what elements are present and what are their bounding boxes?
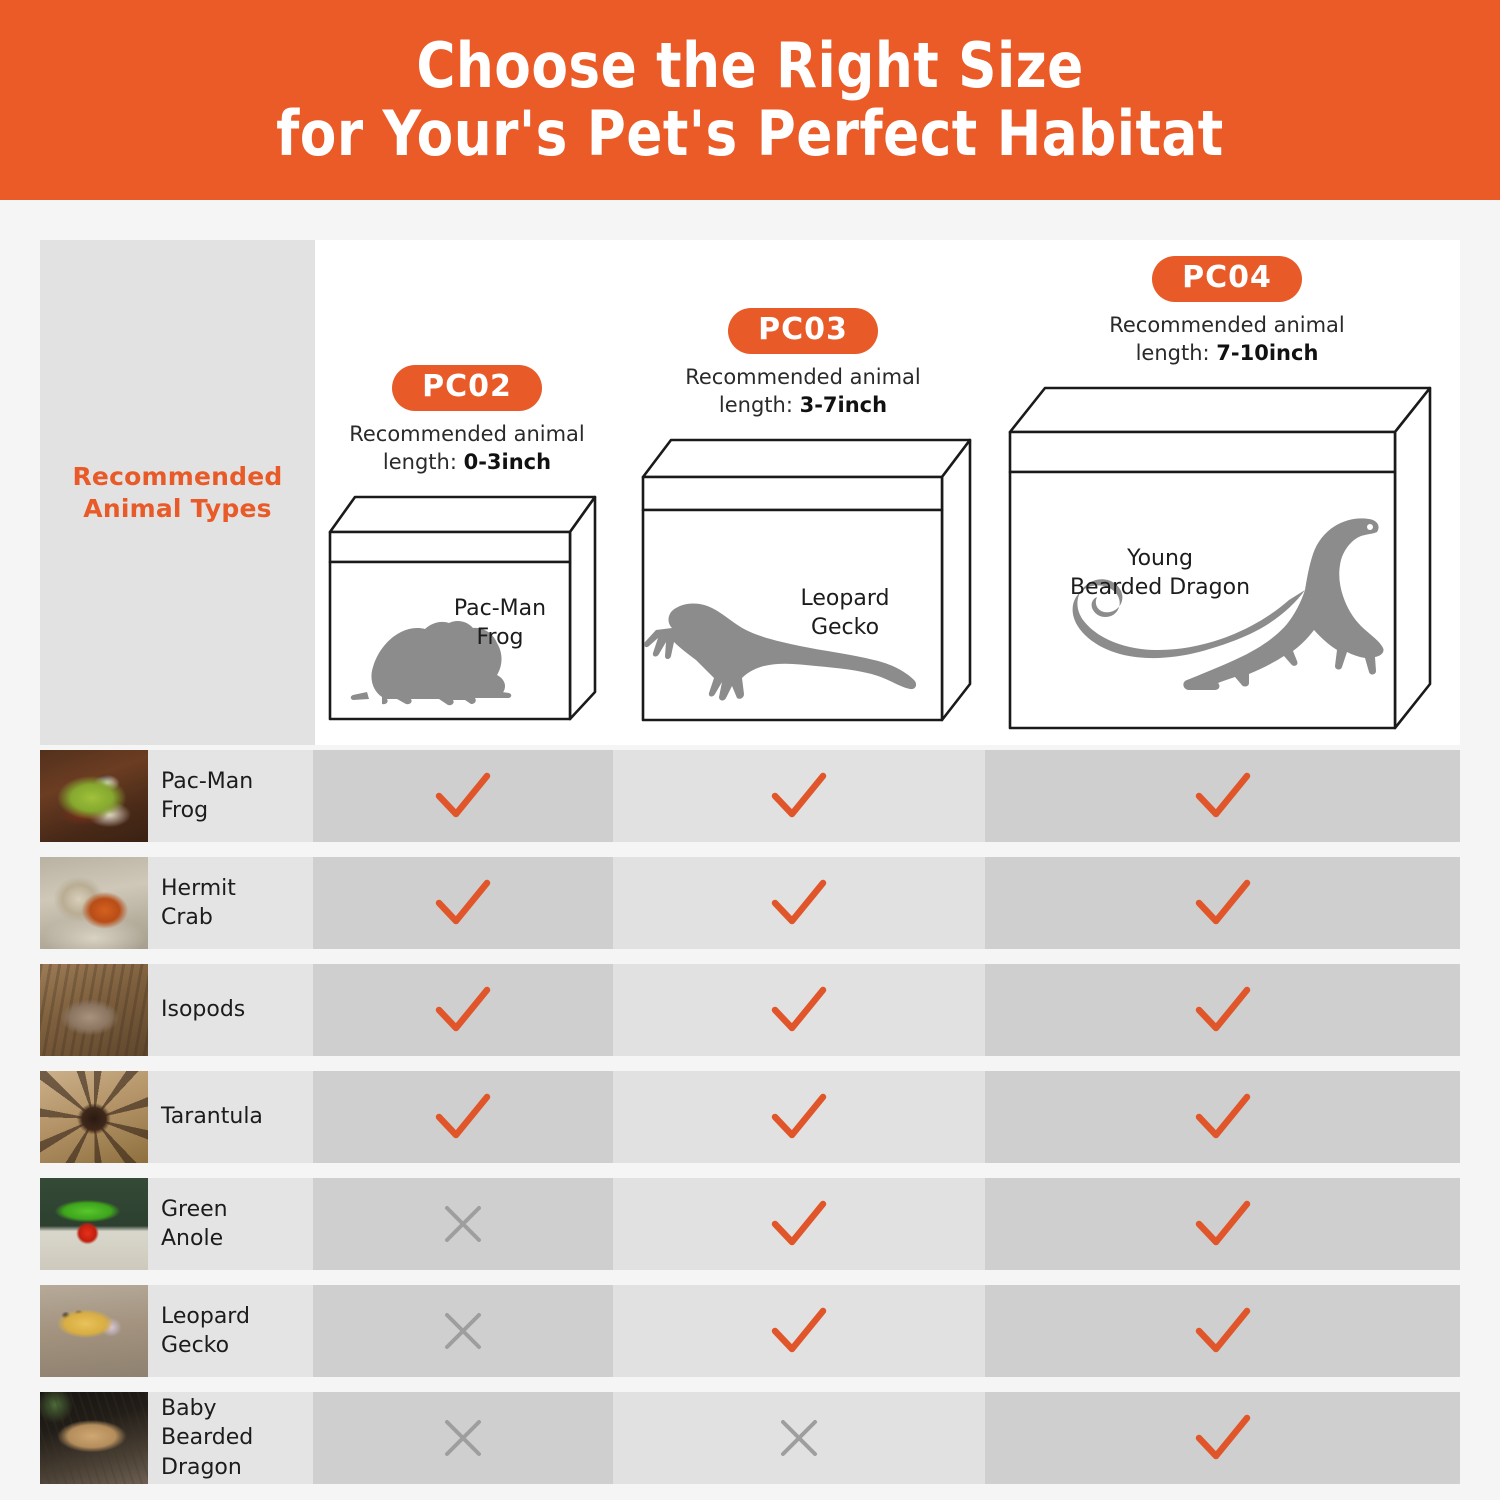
compatibility-table: Pac-Man Frog Hermit Crab Isopods [0,750,1500,1499]
table-row: Leopard Gecko [0,1285,1500,1377]
product-desc-line1-pc02: Recommended animal [349,422,585,446]
product-code-badge-pc03: PC03 [728,308,878,354]
animal-name-cell: Leopard Gecko [148,1285,313,1377]
check-icon [767,768,831,824]
product-spec-pc02: PC02 Recommended animal length: 0-3inch [342,365,592,476]
check-icon [1191,982,1255,1038]
pc04-check-mark [1191,1303,1255,1359]
compat-cell-pc02 [313,1285,613,1377]
check-icon [767,875,831,931]
pc02-check-mark [431,982,495,1038]
pc02-check-mark [431,1089,495,1145]
recommended-animal-types-title: Recommended Animal Types [40,461,315,525]
animal-name: Tarantula [161,1102,263,1131]
pc04-check-mark [1191,1410,1255,1466]
check-icon [431,875,495,931]
compat-cell-pc02 [313,1392,613,1484]
check-icon [1191,875,1255,931]
compat-cell-pc02 [313,750,613,842]
compat-cell-pc04 [985,1178,1460,1270]
animal-name: Leopard Gecko [161,1302,250,1360]
pc02-cross-mark [439,1200,487,1248]
pc02-cross-mark [439,1307,487,1355]
compat-cell-pc03 [613,1178,985,1270]
box-label-pc03: Leopard Gecko [770,585,920,642]
animal-name-line-1: Tarantula [161,1102,263,1131]
product-spec-pc03: PC03 Recommended animal length: 3-7inch [672,308,934,419]
check-icon [767,982,831,1038]
pc04-check-mark [1191,982,1255,1038]
terrarium-box-pc03 [638,432,983,732]
banner-title-line-2: for Your's Pet's Perfect Habitat [276,102,1224,166]
product-length-value-pc04: 7-10inch [1216,341,1318,365]
animal-name-cell: Isopods [148,964,313,1056]
animal-name-line-2: Gecko [161,1331,250,1360]
product-code-badge-pc04: PC04 [1152,256,1302,302]
animal-name-line-2: Dragon [161,1453,313,1482]
header-banner: Choose the Right Size for Your's Pet's P… [0,0,1500,200]
table-row: Tarantula [0,1071,1500,1163]
pc04-check-mark [1191,1196,1255,1252]
box-label-line1-pc04: Young [1060,545,1260,574]
check-icon [767,1089,831,1145]
product-desc-pc02: Recommended animal length: 0-3inch [342,421,592,476]
pc04-check-mark [1191,768,1255,824]
compat-cell-pc04 [985,964,1460,1056]
animal-name-line-2: Crab [161,903,236,932]
box-label-line2-pc02: Frog [430,624,570,653]
animal-thumbnail [40,750,148,842]
box-label-line1-pc03: Leopard [770,585,920,614]
box-label-line2-pc03: Gecko [770,614,920,643]
compat-cell-pc04 [985,1392,1460,1484]
pc04-check-mark [1191,875,1255,931]
compat-cell-pc02 [313,857,613,949]
animal-thumbnail [40,1392,148,1484]
compat-cell-pc03 [613,857,985,949]
product-desc-pc03: Recommended animal length: 3-7inch [672,364,934,419]
compat-cell-pc02 [313,1071,613,1163]
animal-thumbnail [40,964,148,1056]
animal-name-line-1: Green [161,1195,228,1224]
box-label-line2-pc04: Bearded Dragon [1060,574,1260,603]
animal-name-line-2: Frog [161,796,253,825]
compat-cell-pc03 [613,964,985,1056]
size-guide-infographic: Choose the Right Size for Your's Pet's P… [0,0,1500,1500]
check-icon [431,982,495,1038]
animal-name-cell: Tarantula [148,1071,313,1163]
product-desc-line1-pc03: Recommended animal [685,365,921,389]
product-length-label-pc02: length: [383,450,464,474]
pc02-cross-mark [439,1414,487,1462]
cross-icon [439,1307,487,1355]
pc03-check-mark [767,768,831,824]
box-label-pc04: Young Bearded Dragon [1060,545,1260,602]
check-icon [431,768,495,824]
compat-cell-pc02 [313,964,613,1056]
check-icon [1191,1089,1255,1145]
animal-name-cell: Green Anole [148,1178,313,1270]
animal-name: Pac-Man Frog [161,767,253,825]
compat-cell-pc04 [985,857,1460,949]
animal-name-cell: Hermit Crab [148,857,313,949]
compat-cell-pc03 [613,1071,985,1163]
pc03-check-mark [767,982,831,1038]
table-row: Hermit Crab [0,857,1500,949]
product-code-badge-pc02: PC02 [392,365,542,411]
cross-icon [775,1414,823,1462]
product-desc-pc04: Recommended animal length: 7-10inch [1052,312,1402,367]
product-length-value-pc02: 0-3inch [464,450,552,474]
compat-cell-pc03 [613,1285,985,1377]
animal-thumbnail [40,1178,148,1270]
animal-name: Isopods [161,995,245,1024]
check-icon [1191,1196,1255,1252]
compat-cell-pc03 [613,1392,985,1484]
check-icon [767,1303,831,1359]
animal-name-cell: Pac-Man Frog [148,750,313,842]
table-row: Pac-Man Frog [0,750,1500,842]
check-icon [1191,768,1255,824]
product-length-value-pc03: 3-7inch [800,393,888,417]
compat-cell-pc02 [313,1178,613,1270]
animal-thumbnail [40,1071,148,1163]
box-label-pc02: Pac-Man Frog [430,595,570,652]
cross-icon [439,1200,487,1248]
animal-name: Green Anole [161,1195,228,1253]
animal-name: Hermit Crab [161,874,236,932]
animal-thumbnail [40,857,148,949]
product-length-label-pc03: length: [719,393,800,417]
pc03-cross-mark [775,1414,823,1462]
box-label-line1-pc02: Pac-Man [430,595,570,624]
check-icon [431,1089,495,1145]
animal-name-line-1: Baby Bearded [161,1394,313,1452]
pc04-check-mark [1191,1089,1255,1145]
pc03-check-mark [767,1303,831,1359]
pc02-check-mark [431,875,495,931]
product-length-label-pc04: length: [1136,341,1217,365]
recommended-animal-types-panel: Recommended Animal Types [40,240,315,745]
animal-name-line-1: Pac-Man [161,767,253,796]
animal-name-cell: Baby Bearded Dragon [148,1392,313,1484]
compat-cell-pc04 [985,1285,1460,1377]
product-desc-line1-pc04: Recommended animal [1109,313,1345,337]
banner-title-line-1: Choose the Right Size [416,34,1083,98]
animal-name: Baby Bearded Dragon [161,1394,313,1481]
compat-cell-pc04 [985,750,1460,842]
table-row: Isopods [0,964,1500,1056]
table-row: Baby Bearded Dragon [0,1392,1500,1484]
animal-name-line-1: Isopods [161,995,245,1024]
product-spec-pc04: PC04 Recommended animal length: 7-10inch [1052,256,1402,367]
animal-name-line-2: Anole [161,1224,228,1253]
compat-cell-pc04 [985,1071,1460,1163]
pc03-check-mark [767,1196,831,1252]
compat-cell-pc03 [613,750,985,842]
animal-name-line-1: Hermit [161,874,236,903]
check-icon [767,1196,831,1252]
animal-name-line-1: Leopard [161,1302,250,1331]
pc02-check-mark [431,768,495,824]
pc03-check-mark [767,1089,831,1145]
table-row: Green Anole [0,1178,1500,1270]
animal-thumbnail [40,1285,148,1377]
pc03-check-mark [767,875,831,931]
check-icon [1191,1410,1255,1466]
cross-icon [439,1414,487,1462]
check-icon [1191,1303,1255,1359]
